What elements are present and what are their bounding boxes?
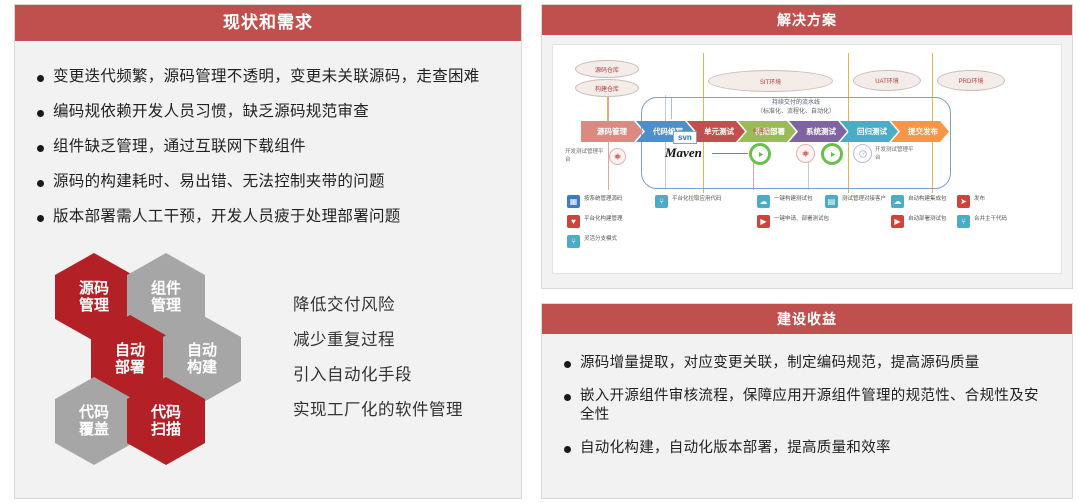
pipeline-caption-line2: （标准化、流程化、自动化） — [641, 108, 951, 117]
list-item-label: 一键构建测试包 — [774, 195, 813, 203]
list-item: ♥ 平台化构建管理 — [567, 215, 623, 228]
stage-release[interactable]: 提交发布 — [891, 121, 949, 142]
list-item: 源码的构建耗时、易出错、无法控制夹带的问题 — [33, 172, 505, 193]
cloud-icon: ☁ — [891, 195, 904, 208]
bullet-dot-icon — [564, 446, 571, 453]
panel-solution: 解决方案 源码仓库 构建仓库 — [541, 4, 1073, 289]
repository-build-label: 构建仓库 — [595, 84, 619, 93]
stage-label: 提交发布 — [908, 126, 938, 137]
hexagon-label-line1: 源码 — [79, 280, 109, 297]
bullet-dot-icon — [564, 361, 571, 368]
list-item: 编码规依赖开发人员习惯，缺乏源码规范审查 — [33, 102, 505, 123]
feature-column-2: ⑂ 平台化拉取应用代码 — [655, 195, 722, 215]
rocket-icon: ➤ — [957, 195, 970, 208]
list-item-label: 源码的构建耗时、易出错、无法控制夹带的问题 — [53, 172, 385, 193]
list-item: ▦ 按系统管理源码 — [567, 195, 623, 208]
list-item-label: 自动化构建，自动化版本部署，提高质量和效率 — [580, 439, 891, 459]
svn-logo: svn — [673, 131, 697, 144]
gear-icon-glyph — [801, 149, 810, 158]
goal-item: 减少重复过程 — [293, 326, 463, 350]
list-item: 变更迭代频繁，源码管理不透明，变更未关联源码，走查困难 — [33, 67, 505, 88]
environment-sit: SIT环境 — [708, 70, 833, 92]
hexagon-label-line2: 管理 — [79, 297, 109, 314]
bullet-dot-icon — [37, 145, 44, 152]
panel-solution-body: 源码仓库 构建仓库 SIT环境 UAT环境 PRD环境 — [542, 44, 1072, 274]
pipeline-caption: 持续交付的流水线 （标准化、流程化、自动化） — [641, 99, 951, 117]
panel-solution-title: 解决方案 — [542, 5, 1072, 35]
capability-hexagon-cluster: 源码 管理 组件 管理 自动 部署 自动 构建 代码 覆盖 — [43, 245, 273, 485]
list-item: ▶ 自动部署测试包 — [891, 215, 947, 228]
play-icon-glyph — [756, 150, 765, 159]
benefit-bullet-list: 源码增量提取，对应变更关联，制定编码规范，提高源码质量 嵌入开源组件审核流程，保… — [542, 334, 1072, 458]
environment-prd-label: PRD环境 — [959, 76, 984, 85]
repository-source: 源码仓库 — [575, 60, 639, 78]
gear-icon — [796, 144, 815, 163]
maven-arrow-line — [712, 153, 748, 154]
stage-regression-test[interactable]: 回归测试 — [840, 121, 898, 142]
list-item: ⑂ 平台化拉取应用代码 — [655, 195, 722, 208]
panel-current-status-body: 变更迭代频繁，源码管理不透明，变更未关联源码，走查困难 编码规依赖开发人员习惯，… — [15, 41, 521, 228]
list-item: 源码增量提取，对应变更关联，制定编码规范，提高源码质量 — [560, 354, 1050, 374]
feature-column-3: ☁ 一键构建测试包 ▶ 一键申请、部署测试包 — [757, 195, 829, 235]
hexagon-label-line1: 代码 — [79, 404, 109, 421]
hexagon-label-line2: 扫描 — [151, 421, 181, 438]
hexagon-label-line1: 自动 — [115, 342, 145, 359]
stage-label: 源码管理 — [597, 126, 627, 137]
cloud-icon: ☁ — [757, 195, 770, 208]
hexagon-label-line1: 自动 — [187, 342, 217, 359]
stage-label: 回归测试 — [857, 126, 887, 137]
list-item-label: 变更迭代频繁，源码管理不透明，变更未关联源码，走查困难 — [53, 67, 480, 88]
list-item: 组件缺乏管理，通过互联网下载组件 — [33, 137, 505, 158]
play-icon: ▶ — [757, 215, 770, 228]
list-item-label: 版本部署需人工干预，开发人员疲于处理部署问题 — [53, 207, 401, 228]
list-item-label: 自动构建集成包 — [908, 195, 947, 203]
list-item: ☁ 一键构建测试包 — [757, 195, 829, 208]
branch-icon: ⑂ — [567, 235, 580, 248]
list-item-label: 自动部署测试包 — [908, 215, 947, 223]
bullet-dot-icon — [37, 215, 44, 222]
list-item-label: 嵌入开源组件审核流程，保障应用开源组件管理的规范性、合规性及安全性 — [580, 387, 1050, 426]
current-status-goal-list: 降低交付风险 减少重复过程 引入自动化手段 实现工厂化的软件管理 — [293, 291, 463, 431]
list-item-label: 按系统管理源码 — [584, 195, 623, 203]
list-item-label: 测试管理对接客户 — [842, 195, 886, 203]
goal-item: 实现工厂化的软件管理 — [293, 396, 463, 420]
build-repo-tag: 构建库 — [753, 129, 770, 137]
hexagon-label-line2: 管理 — [151, 297, 181, 314]
feature-column-6: ➤ 发布 ⑂ 合并主干代码 — [957, 195, 1007, 235]
goal-item: 降低交付风险 — [293, 291, 463, 315]
bullet-dot-icon — [564, 394, 571, 401]
stage-label: 系统测试 — [806, 126, 836, 137]
list-item: 嵌入开源组件审核流程，保障应用开源组件管理的规范性、合规性及安全性 — [560, 387, 1050, 426]
list-item-label: 源码增量提取，对应变更关联，制定编码规范，提高源码质量 — [580, 354, 980, 374]
branch-icon: ⑂ — [957, 215, 970, 228]
goal-item: 引入自动化手段 — [293, 361, 463, 385]
list-item-label: 一键申请、部署测试包 — [774, 215, 829, 223]
bullet-dot-icon — [37, 110, 44, 117]
hexagon-label-line1: 代码 — [151, 404, 181, 421]
list-item: ☁ 自动构建集成包 — [891, 195, 947, 208]
feature-column-1: ▦ 按系统管理源码 ♥ 平台化构建管理 ⑂ 灵活分支模式 — [567, 195, 623, 255]
list-item: 自动化构建，自动化版本部署，提高质量和效率 — [560, 439, 1050, 459]
list-item-label: 平台化拉取应用代码 — [672, 195, 722, 203]
hexagon-label-line2: 构建 — [187, 359, 217, 376]
gauge-icon-glyph — [858, 149, 868, 159]
panel-construction-benefit-title: 建设收益 — [542, 304, 1072, 334]
heart-icon: ♥ — [567, 215, 580, 228]
list-item-label: 平台化构建管理 — [584, 215, 623, 223]
repository-build: 构建仓库 — [575, 79, 639, 97]
platform-label-left: 开发测试管理平台 — [565, 149, 607, 165]
feature-column-4: ▤ 测试管理对接客户 — [825, 195, 886, 215]
maven-logo: Maven — [665, 145, 702, 161]
play-button-icon[interactable] — [821, 143, 843, 165]
list-item: 版本部署需人工干预，开发人员疲于处理部署问题 — [33, 207, 505, 228]
environment-uat-label: UAT环境 — [875, 76, 899, 85]
stage-system-test[interactable]: 系统测试 — [789, 121, 847, 142]
panel-current-status: 现状和需求 变更迭代频繁，源码管理不透明，变更未关联源码，走查困难 编码规依赖开… — [14, 4, 522, 499]
play-button-icon[interactable] — [749, 143, 771, 165]
repo-connector-line — [607, 97, 608, 123]
current-status-bullet-list: 变更迭代频繁，源码管理不透明，变更未关联源码，走查困难 编码规依赖开发人员习惯，… — [15, 41, 521, 228]
environment-sit-label: SIT环境 — [760, 77, 781, 86]
bullet-dot-icon — [37, 75, 44, 82]
list-item: ⑂ 灵活分支模式 — [567, 235, 623, 248]
play-icon-glyph — [828, 150, 837, 159]
grid-icon: ▦ — [567, 195, 580, 208]
gear-icon-glyph — [613, 152, 622, 161]
environment-uat: UAT环境 — [853, 70, 921, 91]
panel-current-status-title: 现状和需求 — [15, 5, 521, 41]
stage-label: 单元测试 — [704, 126, 734, 137]
list-item: ⑂ 合并主干代码 — [957, 215, 1007, 228]
hexagon-label-line2: 覆盖 — [79, 421, 109, 438]
panel-construction-benefit-body: 源码增量提取，对应变更关联，制定编码规范，提高源码质量 嵌入开源组件审核流程，保… — [542, 334, 1072, 458]
panel-construction-benefit: 建设收益 源码增量提取，对应变更关联，制定编码规范，提高源码质量 嵌入开源组件审… — [541, 303, 1073, 499]
list-item-label: 编码规依赖开发人员习惯，缺乏源码规范审查 — [53, 102, 369, 123]
clipboard-icon: ▤ — [825, 195, 838, 208]
feature-column-5: ☁ 自动构建集成包 ▶ 自动部署测试包 — [891, 195, 947, 235]
hexagon-label-line1: 组件 — [151, 280, 181, 297]
repository-source-label: 源码仓库 — [595, 65, 619, 74]
list-item: ➤ 发布 — [957, 195, 1007, 208]
list-item-label: 合并主干代码 — [974, 215, 1007, 223]
list-item: ▶ 一键申请、部署测试包 — [757, 215, 829, 228]
pipeline-caption-line1: 持续交付的流水线 — [641, 99, 951, 108]
hexagon-label-line2: 部署 — [115, 359, 145, 376]
environment-prd: PRD环境 — [937, 70, 1005, 91]
list-item-label: 发布 — [974, 195, 985, 203]
play-icon: ▶ — [891, 215, 904, 228]
slide-root: 现状和需求 变更迭代频繁，源码管理不透明，变更未关联源码，走查困难 编码规依赖开… — [0, 0, 1080, 503]
cicd-pipeline-diagram: 源码仓库 构建仓库 SIT环境 UAT环境 PRD环境 — [552, 44, 1062, 274]
list-item-label: 灵活分支模式 — [584, 235, 617, 243]
bullet-dot-icon — [37, 180, 44, 187]
gauge-icon — [853, 144, 872, 163]
platform-label-right: 开发测试管理平台 — [875, 147, 917, 163]
branch-icon: ⑂ — [655, 195, 668, 208]
list-item: ▤ 测试管理对接客户 — [825, 195, 886, 208]
stage-source-management[interactable]: 源码管理 — [581, 121, 643, 142]
list-item-label: 组件缺乏管理，通过互联网下载组件 — [53, 137, 306, 158]
gear-icon — [609, 148, 626, 165]
